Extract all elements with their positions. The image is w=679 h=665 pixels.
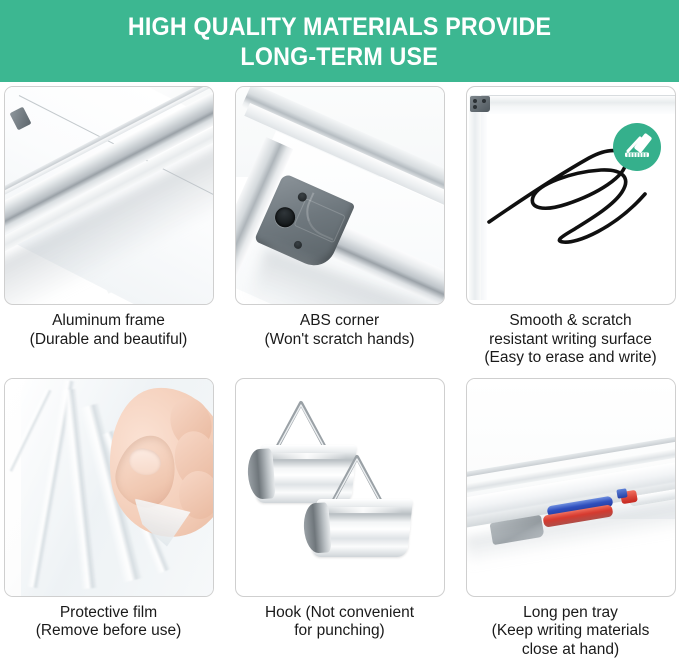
caption-title: Long pen tray bbox=[460, 604, 679, 623]
caption-subtitle: (Won't scratch hands) bbox=[229, 331, 451, 350]
feature-cell-protective-film: Protective film (Remove before use) bbox=[0, 378, 220, 660]
caption-subtitle: for punching) bbox=[229, 622, 451, 641]
caption-title: Hook (Not convenient bbox=[229, 604, 451, 623]
feature-cell-pen-tray: Long pen tray (Keep writing materials cl… bbox=[460, 378, 679, 660]
caption-subtitle: (Remove before use) bbox=[0, 622, 220, 641]
corner-screw-hole-small-bottom bbox=[292, 240, 303, 251]
eraser-icon bbox=[620, 130, 654, 164]
caption-subtitle: (Durable and beautiful) bbox=[0, 331, 220, 350]
feature-cell-writing-surface: Smooth & scratch resistant writing surfa… bbox=[460, 86, 679, 368]
feature-image-aluminum-frame bbox=[4, 86, 214, 305]
infographic-page: HIGH QUALITY MATERIALS PROVIDE LONG-TERM… bbox=[0, 0, 679, 665]
bracket-hole-2 bbox=[482, 99, 486, 103]
corner-bracket-icon bbox=[470, 96, 490, 112]
header-banner: HIGH QUALITY MATERIALS PROVIDE LONG-TERM… bbox=[0, 0, 679, 82]
frame-top-rail-inner bbox=[469, 107, 675, 114]
feature-grid-row-2: Protective film (Remove before use) bbox=[0, 374, 679, 660]
feature-cell-hook: Hook (Not convenient for punching) bbox=[229, 378, 451, 660]
hanging-hook-2 bbox=[314, 453, 410, 565]
caption-subtitle: (Easy to erase and write) bbox=[460, 349, 679, 368]
feature-caption-writing-surface: Smooth & scratch resistant writing surfa… bbox=[460, 312, 679, 368]
feature-image-protective-film bbox=[4, 378, 214, 597]
feature-caption-protective-film: Protective film (Remove before use) bbox=[0, 604, 220, 641]
hook-highlight bbox=[324, 507, 402, 513]
feature-image-abs-corner bbox=[235, 86, 445, 305]
bracket-hole-1 bbox=[473, 99, 477, 103]
feature-cell-aluminum-frame: Aluminum frame (Durable and beautiful) bbox=[0, 86, 220, 368]
feature-image-hook bbox=[235, 378, 445, 597]
caption-title: Protective film bbox=[0, 604, 220, 623]
caption-title: Aluminum frame bbox=[0, 312, 220, 331]
feature-image-writing-surface bbox=[466, 86, 676, 305]
feature-caption-hook: Hook (Not convenient for punching) bbox=[229, 604, 451, 641]
corner-screw-hole-large bbox=[271, 204, 297, 230]
marker-cap-blue bbox=[616, 488, 627, 499]
feature-cell-abs-corner: ABS corner (Won't scratch hands) bbox=[229, 86, 451, 368]
caption-subtitle: (Keep writing materials bbox=[460, 622, 679, 641]
header-title-line1: HIGH QUALITY MATERIALS PROVIDE bbox=[128, 12, 551, 42]
caption-title: Smooth & scratch bbox=[460, 312, 679, 331]
feature-caption-abs-corner: ABS corner (Won't scratch hands) bbox=[229, 312, 451, 349]
erasable-surface-badge bbox=[613, 123, 661, 171]
caption-title-2: resistant writing surface bbox=[460, 331, 679, 350]
caption-title: ABS corner bbox=[229, 312, 451, 331]
feature-grid-row-1: Aluminum frame (Durable and beautiful) bbox=[0, 82, 679, 368]
feature-caption-pen-tray: Long pen tray (Keep writing materials cl… bbox=[460, 604, 679, 660]
feature-caption-aluminum-frame: Aluminum frame (Durable and beautiful) bbox=[0, 312, 220, 349]
bracket-hole-3 bbox=[473, 105, 477, 109]
caption-subtitle-2: close at hand) bbox=[460, 641, 679, 660]
feature-image-pen-tray bbox=[466, 378, 676, 597]
header-title-line2: LONG-TERM USE bbox=[241, 42, 438, 72]
